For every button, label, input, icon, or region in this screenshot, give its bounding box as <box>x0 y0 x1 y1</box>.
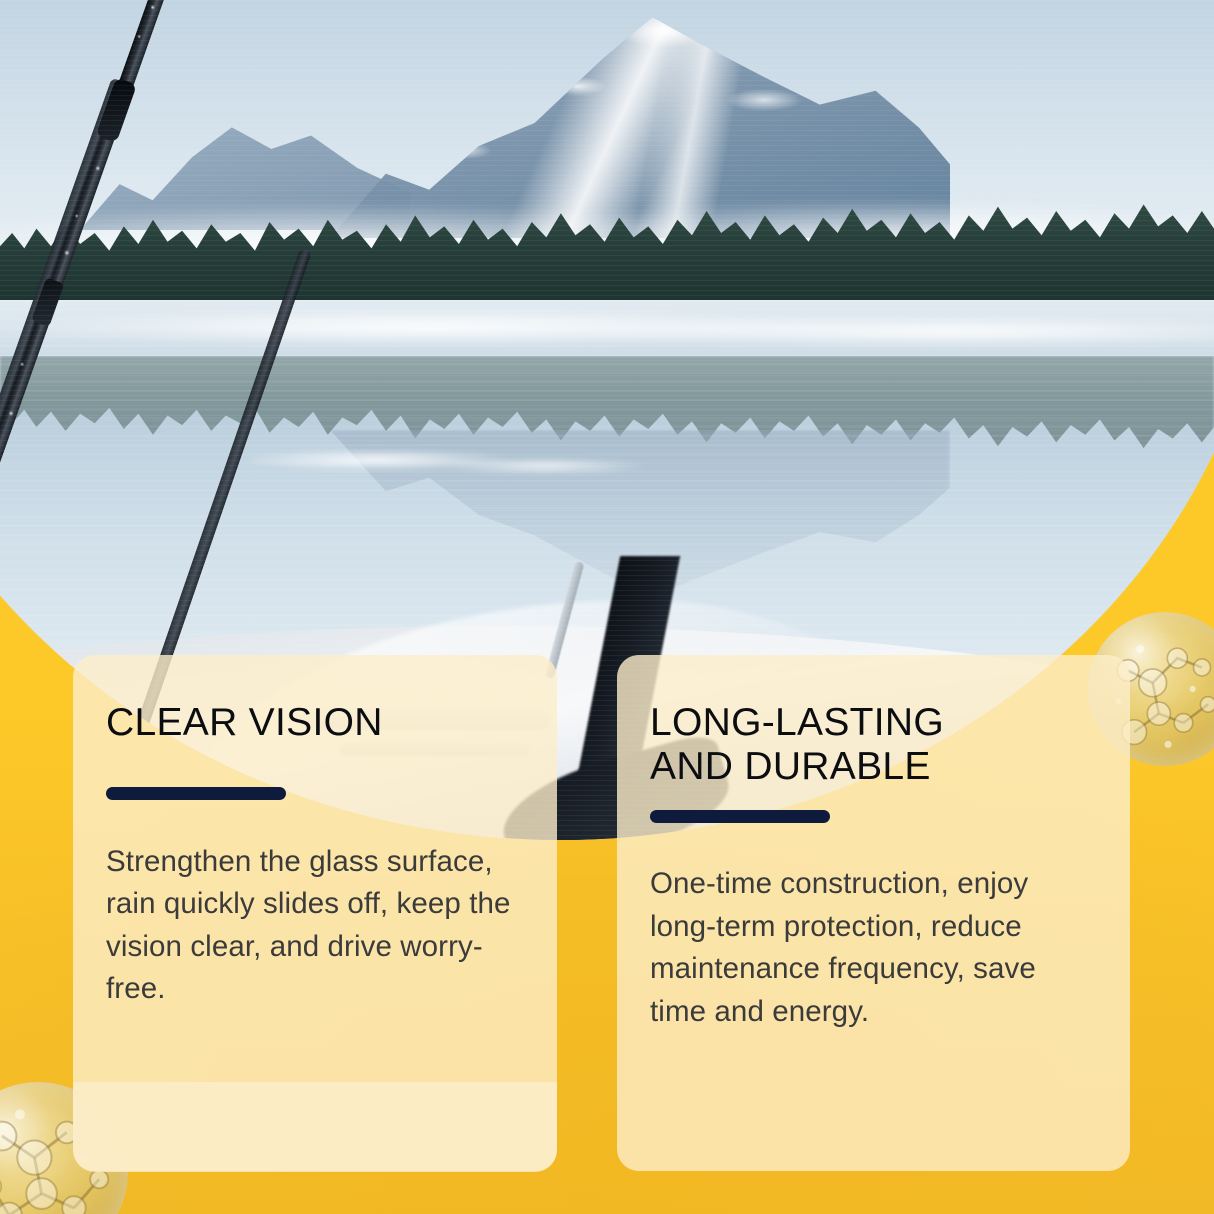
feature-card-clear-vision: CLEAR VISION Strengthen the glass surfac… <box>73 655 557 1171</box>
promo-banner: CLEAR VISION Strengthen the glass surfac… <box>0 0 1214 1214</box>
feature-card-title: CLEAR VISION <box>106 701 525 745</box>
water-highlight-streak <box>250 430 670 490</box>
feature-card-long-lasting: LONG-LASTING AND DURABLE One-time constr… <box>617 655 1130 1171</box>
title-underline-rule <box>650 810 830 823</box>
feature-card-body: Strengthen the glass surface, rain quick… <box>106 841 525 1011</box>
title-underline-rule <box>106 787 286 800</box>
feature-card-body: One-time construction, enjoy long-term p… <box>650 863 1098 1033</box>
feature-card-title: LONG-LASTING AND DURABLE <box>650 701 1098 788</box>
